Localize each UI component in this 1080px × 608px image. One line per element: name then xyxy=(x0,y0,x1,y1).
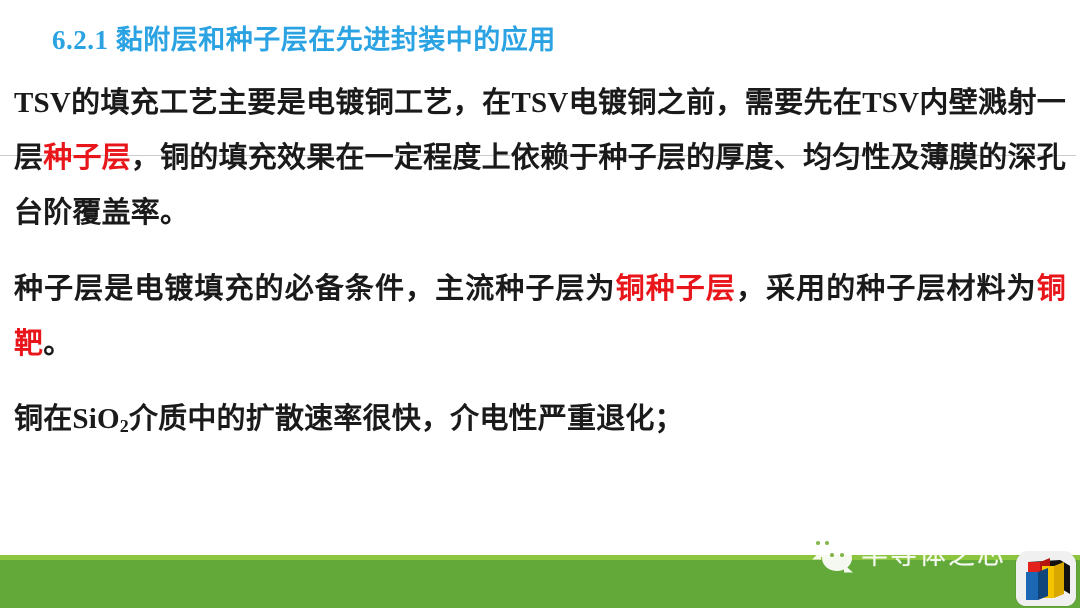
page-title: 6.2.1 黏附层和种子层在先进封装中的应用 xyxy=(52,24,556,58)
cube-logo xyxy=(1016,552,1076,606)
slide-canvas: 6.2.1 黏附层和种子层在先进封装中的应用 TSV的填充工艺主要是电镀铜工艺，… xyxy=(0,0,1080,608)
footer-band xyxy=(0,560,1080,608)
highlight-seed-layer: 种子层 xyxy=(43,142,131,174)
paragraph-1-segment-3: ，铜的填充效果在一定程度上依赖于种子层的厚度、均匀性及薄膜的深孔台阶覆盖率。 xyxy=(14,142,1066,229)
paragraph-1: TSV的填充工艺主要是电镀铜工艺，在TSV电镀铜之前，需要先在TSV内壁溅射一层… xyxy=(14,76,1066,241)
paragraph-2-segment-1: 种子层是电镀填充的必备条件，主流种子层为 xyxy=(14,273,616,305)
paragraph-2: 种子层是电镀填充的必备条件，主流种子层为铜种子层，采用的种子层材料为铜靶。 xyxy=(14,262,1066,372)
highlight-copper-seed-layer: 铜种子层 xyxy=(616,273,736,305)
subscript-2: 2 xyxy=(120,416,129,436)
paragraph-2-segment-5: 。 xyxy=(43,328,72,360)
paragraph-3-segment-3: 介质中的扩散速率很快，介电性严重退化； xyxy=(129,403,684,435)
paragraph-2-segment-3: ，采用的种子层材料为 xyxy=(736,273,1037,305)
body-content: TSV的填充工艺主要是电镀铜工艺，在TSV电镀铜之前，需要先在TSV内壁溅射一层… xyxy=(14,76,1066,454)
paragraph-3: 铜在SiO2介质中的扩散速率很快，介电性严重退化； xyxy=(14,392,1066,454)
paragraph-3-segment-1: 铜在SiO xyxy=(14,403,120,435)
